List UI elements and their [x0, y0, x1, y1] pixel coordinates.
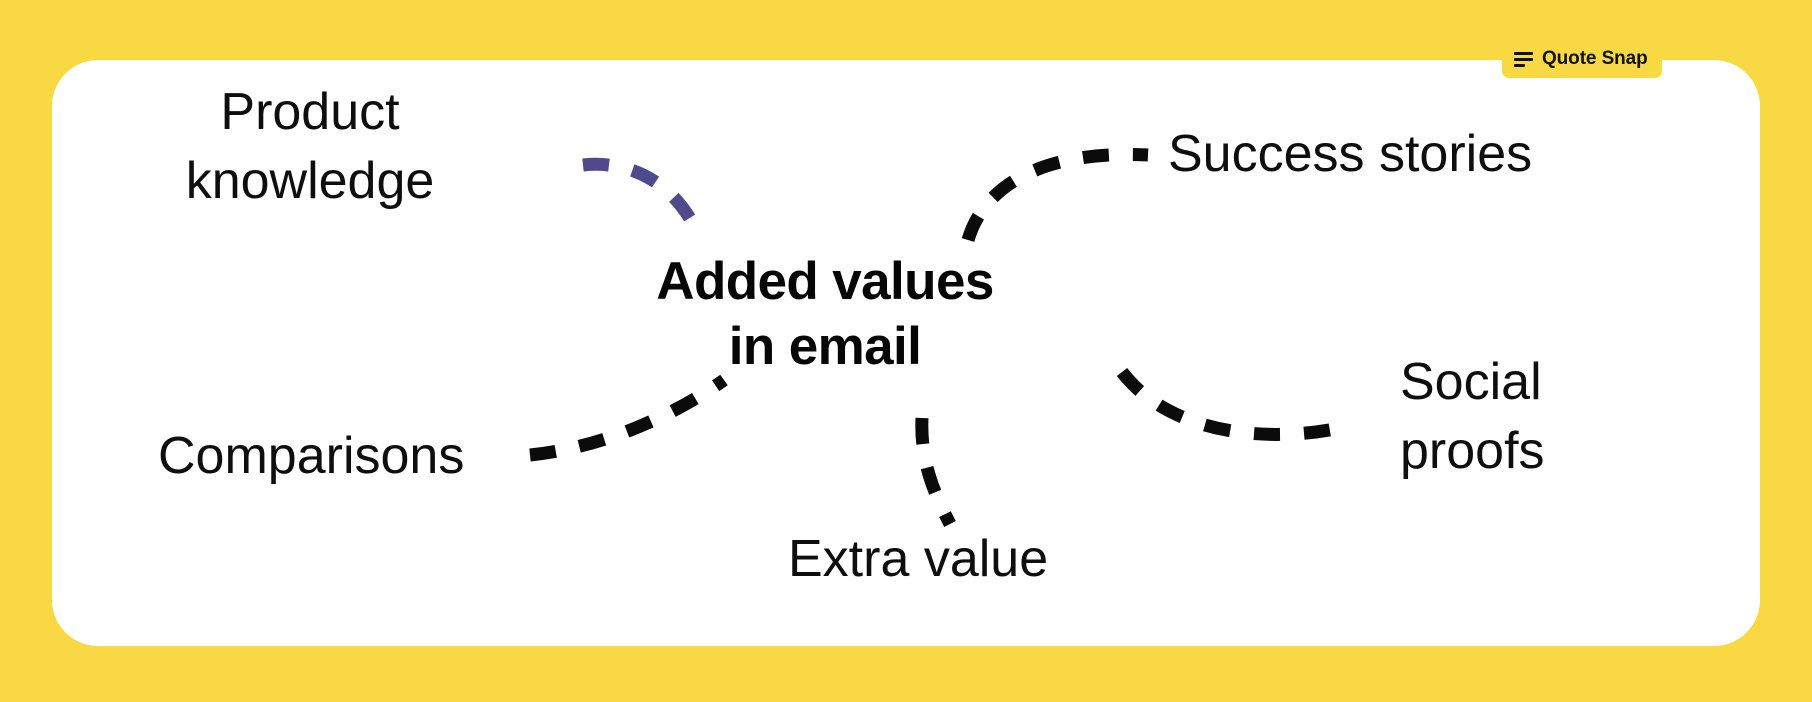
- branch-label-success-stories: Success stories: [1168, 120, 1628, 189]
- brand-badge-label: Quote Snap: [1542, 48, 1648, 70]
- branch-label-product-knowledge: Product knowledge: [120, 78, 500, 216]
- branch-label-social-proofs: Social proofs: [1400, 348, 1730, 486]
- brand-badge[interactable]: Quote Snap: [1502, 40, 1662, 78]
- branch-label-comparisons: Comparisons: [158, 422, 518, 491]
- align-left-icon: [1514, 52, 1533, 67]
- branch-label-extra-value: Extra value: [788, 525, 1088, 594]
- slide-canvas: Added values in email Product knowledge …: [0, 0, 1812, 702]
- center-node-added-values: Added values in email: [620, 250, 1030, 379]
